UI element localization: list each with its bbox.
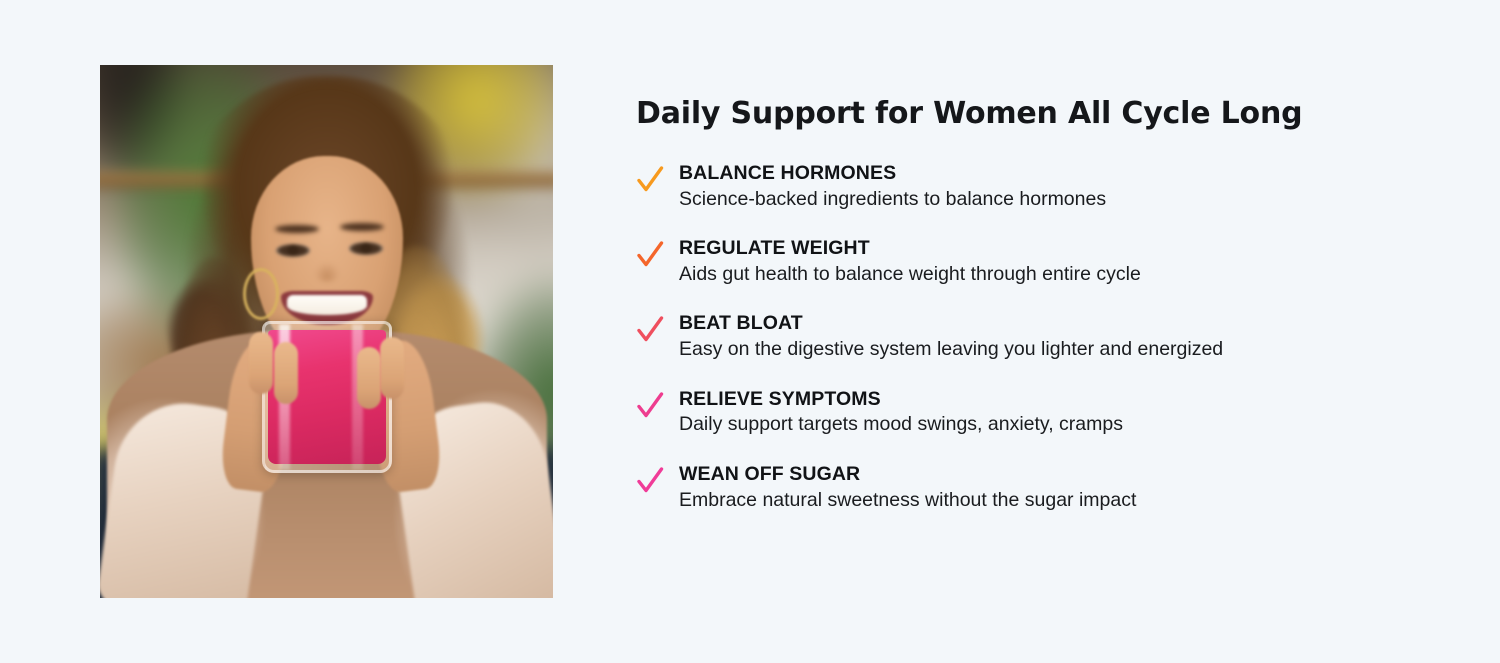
benefits-list: BALANCE HORMONES Science-backed ingredie… (636, 163, 1436, 512)
teeth (287, 295, 367, 315)
eyebrow-right (340, 223, 384, 231)
benefit-title: REGULATE WEIGHT (679, 238, 1436, 260)
benefit-description: Embrace natural sweetness without the su… (679, 489, 1436, 512)
page-title: Daily Support for Women All Cycle Long (636, 96, 1436, 131)
benefit-description: Daily support targets mood swings, anxie… (679, 413, 1436, 436)
benefit-title: WEAN OFF SUGAR (679, 464, 1436, 486)
benefit-text: WEAN OFF SUGAR Embrace natural sweetness… (679, 464, 1436, 512)
check-icon (636, 391, 664, 421)
promo-banner: Daily Support for Women All Cycle Long B… (0, 0, 1500, 663)
finger (274, 342, 298, 404)
benefit-description: Easy on the digestive system leaving you… (679, 338, 1436, 361)
check-icon (636, 315, 664, 345)
eye-left (276, 244, 310, 257)
benefit-text: REGULATE WEIGHT Aids gut health to balan… (679, 238, 1436, 286)
finger (357, 347, 381, 409)
hero-image-frame (100, 65, 553, 598)
benefit-description: Aids gut health to balance weight throug… (679, 263, 1436, 286)
check-icon (636, 466, 664, 496)
check-icon (636, 240, 664, 270)
finger (249, 332, 273, 394)
benefits-panel: Daily Support for Women All Cycle Long B… (636, 96, 1436, 512)
eye-right (349, 242, 383, 255)
benefit-title: RELIEVE SYMPTOMS (679, 389, 1436, 411)
benefit-title: BALANCE HORMONES (679, 163, 1436, 185)
eyebrow-left (275, 225, 319, 233)
check-icon (636, 165, 664, 195)
benefit-item-regulate-weight: REGULATE WEIGHT Aids gut health to balan… (636, 238, 1436, 286)
finger (380, 337, 404, 399)
hoop-earring (243, 268, 279, 320)
benefit-item-wean-off-sugar: WEAN OFF SUGAR Embrace natural sweetness… (636, 464, 1436, 512)
mouth (281, 291, 373, 325)
nose (314, 262, 340, 282)
benefit-text: RELIEVE SYMPTOMS Daily support targets m… (679, 389, 1436, 437)
benefit-item-relieve-symptoms: RELIEVE SYMPTOMS Daily support targets m… (636, 389, 1436, 437)
benefit-title: BEAT BLOAT (679, 313, 1436, 335)
benefit-description: Science-backed ingredients to balance ho… (679, 188, 1436, 211)
benefit-text: BEAT BLOAT Easy on the digestive system … (679, 313, 1436, 361)
hero-image (100, 65, 553, 598)
benefit-item-beat-bloat: BEAT BLOAT Easy on the digestive system … (636, 313, 1436, 361)
benefit-text: BALANCE HORMONES Science-backed ingredie… (679, 163, 1436, 211)
benefit-item-balance-hormones: BALANCE HORMONES Science-backed ingredie… (636, 163, 1436, 211)
